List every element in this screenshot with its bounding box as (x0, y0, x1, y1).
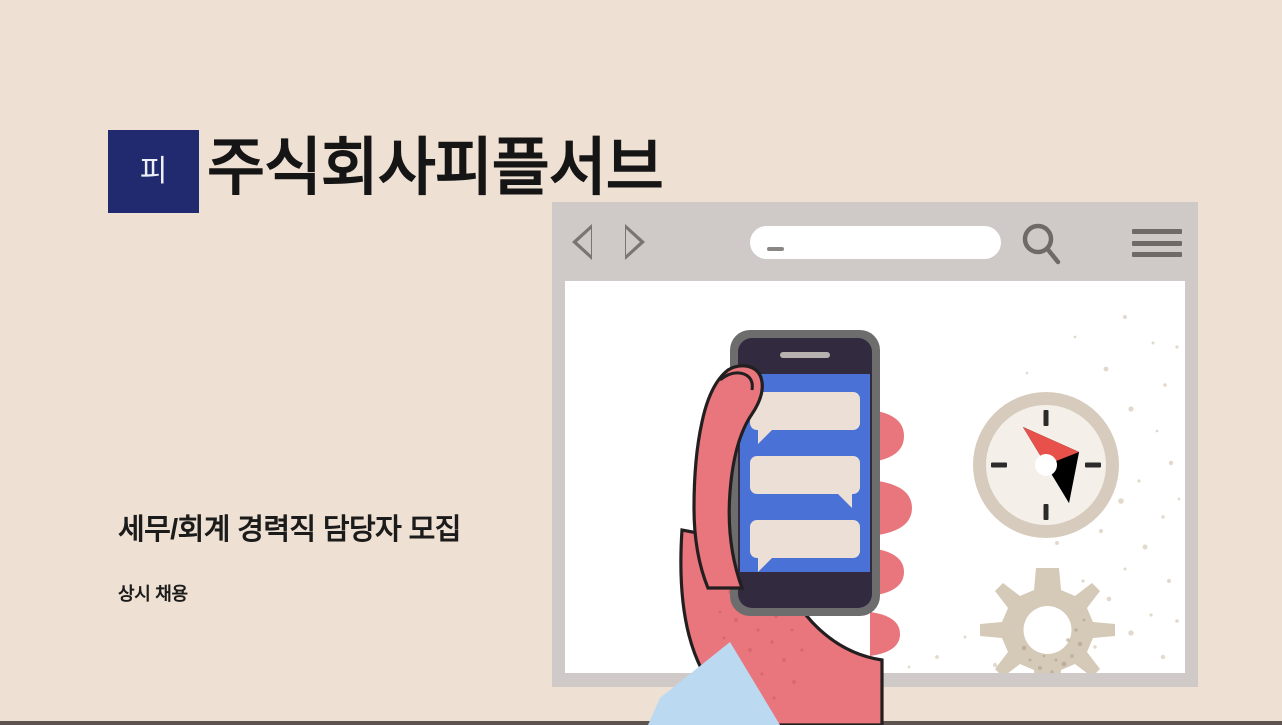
company-logo-glyph: 피 (140, 157, 168, 187)
company-name: 주식회사피플서브 (207, 126, 663, 211)
browser-chrome (552, 202, 1198, 281)
job-title: 세무/회계 경력직 담당자 모집 (118, 506, 461, 548)
employment-type: 상시 채용 (118, 580, 188, 606)
address-bar-input[interactable] (750, 226, 1001, 259)
hamburger-line (1132, 252, 1182, 257)
bottom-divider (0, 721, 1282, 725)
recruitment-banner: 피 주식회사피플서브 세무/회계 경력직 담당자 모집 상시 채용 (0, 0, 1282, 725)
browser-viewport (565, 281, 1185, 673)
search-icon[interactable] (1020, 222, 1062, 266)
hamburger-line (1132, 241, 1182, 246)
triangle-left-icon[interactable] (572, 224, 592, 260)
hamburger-line (1132, 229, 1182, 234)
triangle-right-icon[interactable] (625, 224, 645, 260)
gear-icon (980, 564, 1115, 673)
text-caret (767, 247, 784, 251)
company-logo-mark: 피 (108, 130, 199, 213)
browser-window-illustration (552, 202, 1198, 687)
compass-icon (971, 390, 1121, 540)
hamburger-menu-icon[interactable] (1132, 229, 1182, 257)
